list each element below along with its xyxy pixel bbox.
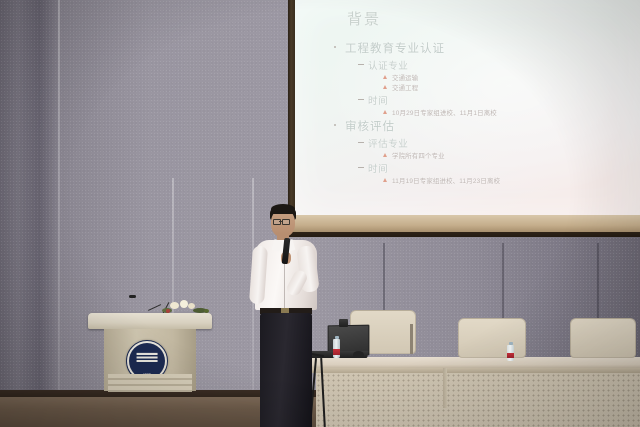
bullet-level3-item: 11月19日专家组进校、11月23日离校 bbox=[383, 176, 630, 185]
computer-mouse bbox=[353, 351, 364, 358]
bullet-level2-item: 认证专业 bbox=[357, 58, 630, 72]
wall-seam-1 bbox=[58, 0, 60, 396]
water-bottle-right bbox=[506, 342, 515, 361]
podium-top bbox=[88, 313, 212, 329]
bullet-level1-item: 审核评估 bbox=[331, 118, 630, 134]
presenter-trousers bbox=[260, 313, 312, 427]
glasses-lens-right bbox=[282, 219, 290, 225]
emblem-core bbox=[137, 353, 158, 365]
chair-backrest bbox=[458, 318, 526, 358]
projection-screen: 背景 工程教育专业认证 认证专业 交通运输 交通工程 时间 10月29日专家组进… bbox=[295, 0, 640, 215]
chair-3 bbox=[570, 318, 634, 362]
presenter bbox=[244, 200, 352, 427]
slide-bullet-list: 工程教育专业认证 认证专业 交通运输 交通工程 时间 10月29日专家组进校、1… bbox=[331, 40, 630, 186]
table-front-panel bbox=[316, 373, 640, 427]
podium-mic-head bbox=[129, 295, 136, 298]
presenter-glasses bbox=[273, 219, 294, 224]
chair-backrest bbox=[570, 318, 636, 358]
slide-title: 背景 bbox=[347, 8, 381, 29]
bullet-level2-item: 时间 bbox=[357, 161, 630, 175]
bullet-level3-item: 学院所有四个专业 bbox=[383, 151, 630, 160]
presenter-hair-top bbox=[271, 204, 295, 214]
flower-petal bbox=[180, 300, 188, 308]
presentation-photo-scene: 背景 工程教育专业认证 认证专业 交通运输 交通工程 时间 10月29日专家组进… bbox=[0, 0, 640, 427]
bullet-level2-item: 评估专业 bbox=[357, 136, 630, 150]
glasses-bridge bbox=[279, 221, 282, 222]
flower-petal bbox=[170, 302, 179, 309]
bullet-level1-item: 工程教育专业认证 bbox=[331, 40, 630, 56]
bullet-level3-item: 交通运输 bbox=[383, 73, 630, 82]
bullet-level3-item: 交通工程 bbox=[383, 83, 630, 92]
bottle-label bbox=[507, 353, 514, 358]
bullet-level3-item: 10月29日专家组进校、11月1日离校 bbox=[383, 108, 630, 117]
bullet-level2-item: 时间 bbox=[357, 93, 630, 107]
screen-frame-left bbox=[288, 0, 295, 222]
podium-slats bbox=[108, 374, 192, 392]
table-leg-mid bbox=[443, 368, 447, 408]
slide-content: 背景 工程教育专业认证 认证专业 交通运输 交通工程 时间 10月29日专家组进… bbox=[295, 0, 640, 215]
chair-frame bbox=[410, 324, 413, 354]
